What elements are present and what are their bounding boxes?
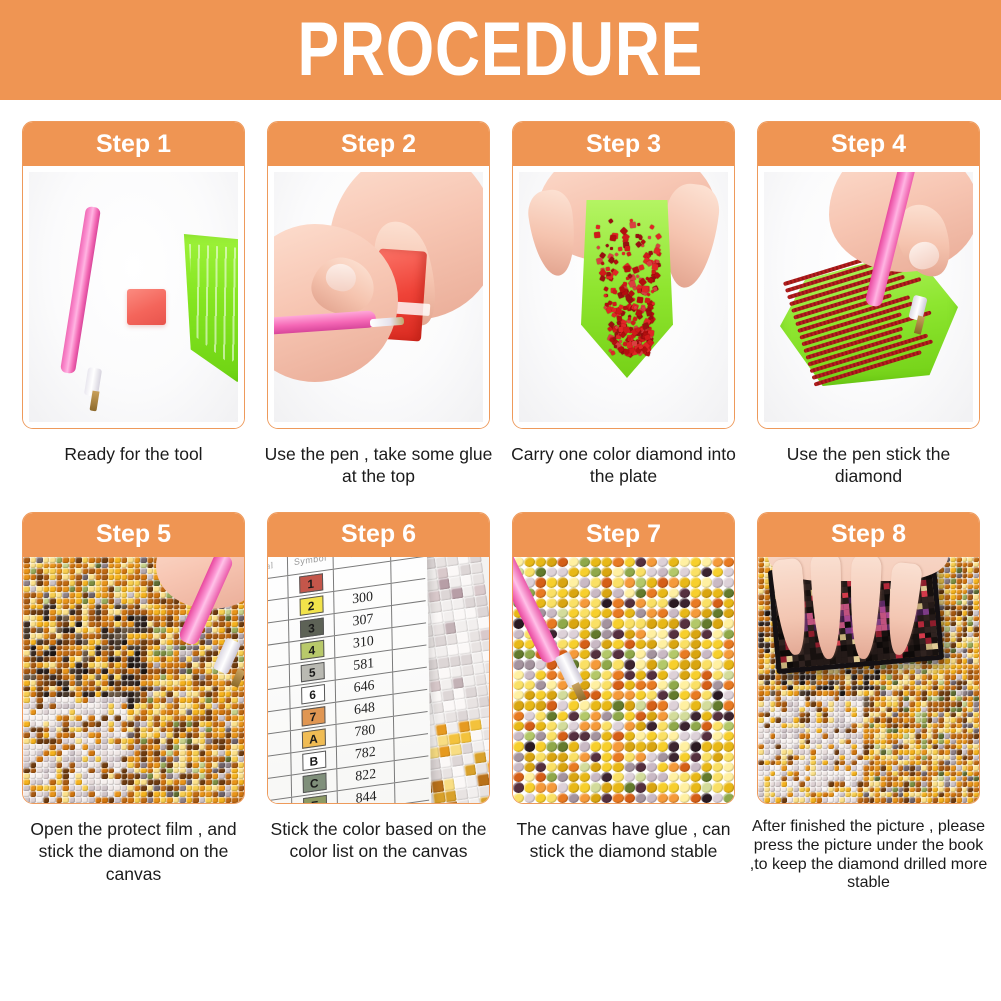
steps-row-1: Step 1 Ready for the tool Step 2 (0, 121, 1001, 488)
sticking-diamond-on-canvas-photo (23, 557, 244, 803)
procedure-banner: PROCEDURE (0, 0, 1001, 100)
step-header-7: Step 7 (513, 513, 734, 557)
step-header-2: Step 2 (268, 122, 489, 166)
step-header-label-3: Step 3 (586, 132, 661, 157)
step-header-label-2: Step 2 (341, 132, 416, 157)
step-caption-6: Stick the color based on the color list … (263, 818, 495, 863)
step-cell-8: Step 8 After finished the picture , plea… (757, 512, 980, 894)
round-beads-icon (513, 557, 734, 803)
step-card-7[interactable]: Step 7 (512, 512, 735, 804)
step-header-1: Step 1 (23, 122, 244, 166)
step-card-8[interactable]: Step 8 (757, 512, 980, 804)
page-title: PROCEDURE (298, 12, 704, 88)
step-header-4: Step 4 (758, 122, 979, 166)
step-caption-8: After finished the picture , please pres… (750, 818, 988, 894)
step-cell-1: Step 1 Ready for the tool (22, 121, 245, 488)
step-header-label-5: Step 5 (96, 522, 171, 547)
step-header-label-1: Step 1 (96, 132, 171, 157)
step-header-label-8: Step 8 (831, 522, 906, 547)
glue-square-icon (127, 289, 166, 325)
step-caption-4: Use the pen stick the diamond (753, 443, 985, 488)
step-header-5: Step 5 (23, 513, 244, 557)
color-list-table: SerialSymbolDMC1122300333074431055581666… (268, 557, 430, 803)
tools-pen-glue-tray-photo (29, 172, 238, 422)
step-body-1 (23, 166, 244, 428)
step-card-6[interactable]: Step 6 SerialSymbolDMC112230033307443105… (267, 512, 490, 804)
step-header-label-6: Step 6 (341, 522, 416, 547)
step-header-label-7: Step 7 (586, 522, 661, 547)
step-caption-1: Ready for the tool (18, 443, 250, 465)
photo-background: SerialSymbolDMC1122300333074431055581666… (268, 557, 489, 803)
step-card-3[interactable]: Step 3 (512, 121, 735, 429)
step-card-1[interactable]: Step 1 (22, 121, 245, 429)
step-header-3: Step 3 (513, 122, 734, 166)
step-caption-2: Use the pen , take some glue at the top (263, 443, 495, 488)
step-header-8: Step 8 (758, 513, 979, 557)
step-card-2[interactable]: Step 2 (267, 121, 490, 429)
step-body-5 (23, 557, 244, 803)
step-card-4[interactable]: Step 4 (757, 121, 980, 429)
step-body-6: SerialSymbolDMC1122300333074431055581666… (268, 557, 489, 803)
step-caption-7: The canvas have glue , can stick the dia… (508, 818, 740, 863)
color-list-chart-photo: SerialSymbolDMC1122300333074431055581666… (268, 557, 489, 803)
step-header-label-4: Step 4 (831, 132, 906, 157)
step-cell-4: Step 4 Use the pen stick the diamond (757, 121, 980, 488)
pressing-picture-under-book-photo (758, 557, 979, 803)
pen-taking-glue-photo (274, 172, 483, 422)
red-diamonds-icon (591, 214, 665, 356)
steps-row-2: Step 5 Open the protect film , and stick… (0, 512, 1001, 894)
step-card-5[interactable]: Step 5 (22, 512, 245, 804)
step-cell-7: Step 7 The canvas have glue , can stick … (512, 512, 735, 894)
diamonds-poured-into-tray-photo (519, 172, 728, 422)
step-body-4 (758, 166, 979, 428)
step-header-6: Step 6 (268, 513, 489, 557)
step-caption-3: Carry one color diamond into the plate (508, 443, 740, 488)
pen-picking-diamond-photo (764, 172, 973, 422)
step-body-8 (758, 557, 979, 803)
round-diamonds-closeup-photo (513, 557, 734, 803)
step-cell-6: Step 6 SerialSymbolDMC112230033307443105… (267, 512, 490, 894)
step-cell-3: Step 3 Carry one color diamond into the … (512, 121, 735, 488)
step-caption-5: Open the protect film , and stick the di… (18, 818, 250, 885)
step-cell-2: Step 2 Use the pen , take some (267, 121, 490, 488)
fingers-icon (776, 557, 942, 641)
step-cell-5: Step 5 Open the protect film , and stick… (22, 512, 245, 894)
step-body-7 (513, 557, 734, 803)
step-body-2 (268, 166, 489, 428)
step-body-3 (513, 166, 734, 428)
